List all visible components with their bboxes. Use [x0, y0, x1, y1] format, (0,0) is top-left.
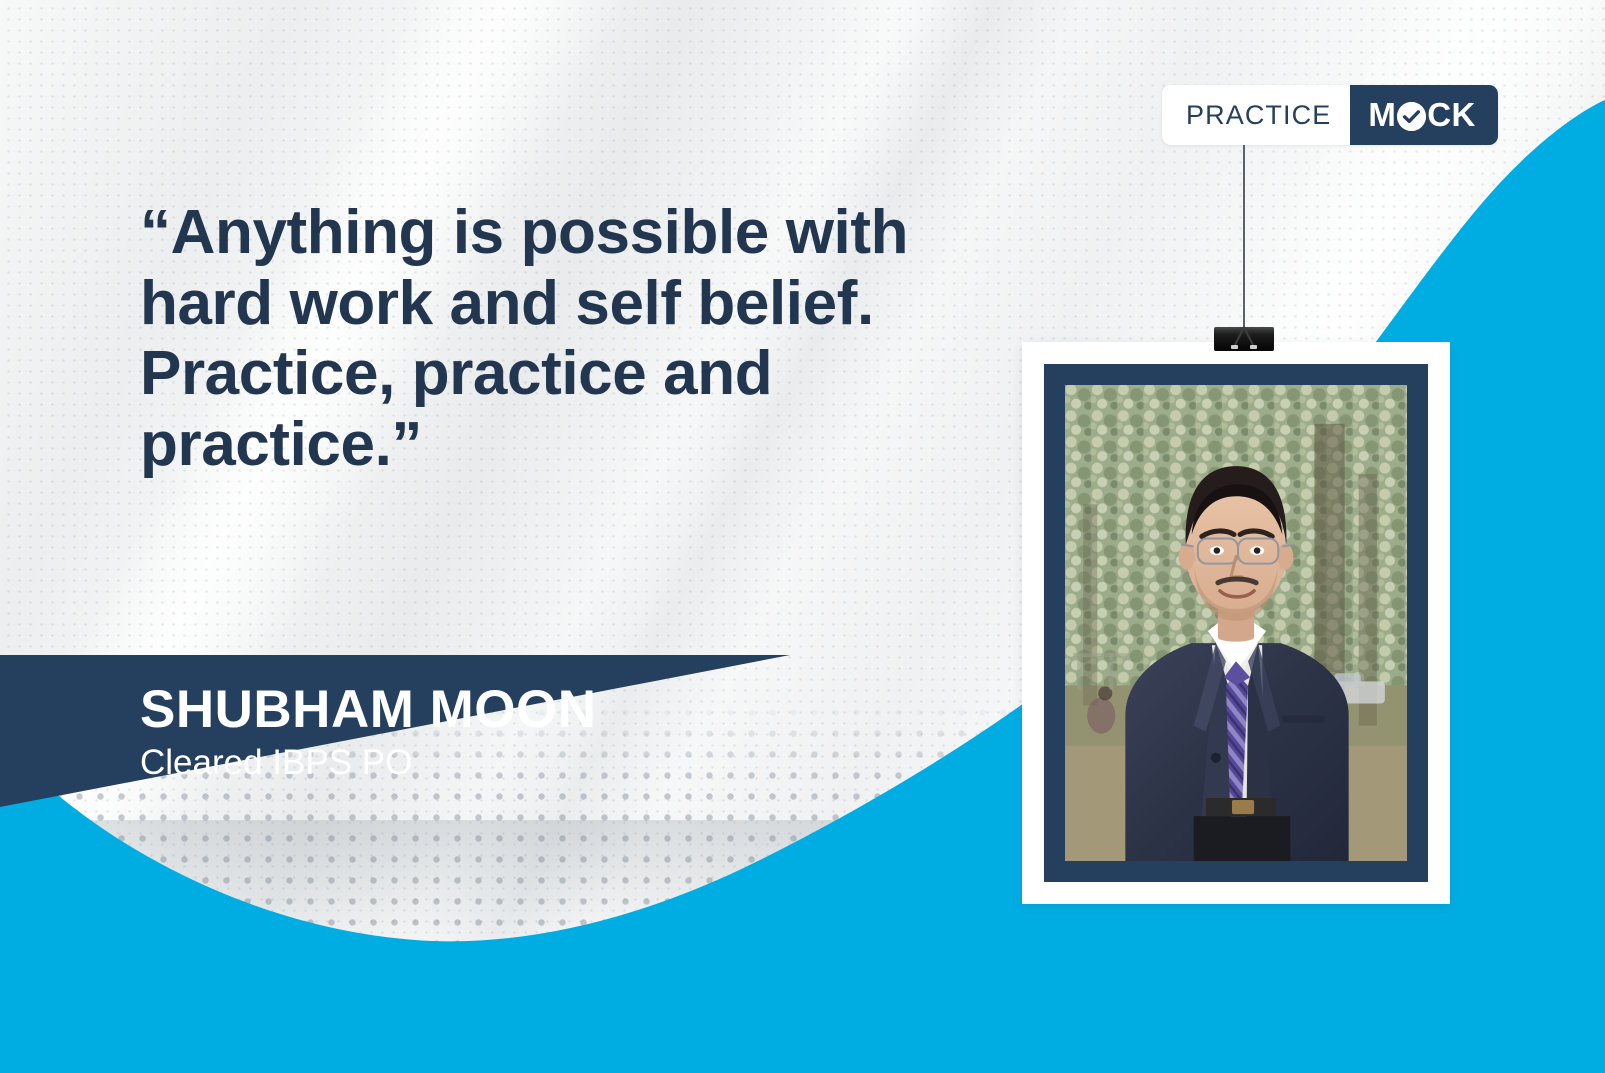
brand-logo[interactable]: PRACTICE M CK: [1162, 85, 1498, 145]
name-banner-content: SHUBHAM MOON Cleared IBPS PO: [0, 655, 790, 807]
testimonial-poster: SHUBHAM MOON Cleared IBPS PO “Anything i…: [0, 0, 1605, 1073]
logo-mock-letter-m: M: [1368, 96, 1396, 134]
photo-frame-mat: [1022, 342, 1450, 904]
person-name: SHUBHAM MOON: [140, 683, 790, 736]
photo-frame-inner-border: [1044, 364, 1428, 882]
quote-line-1: “Anything is possible with: [140, 198, 920, 269]
person-photo-illustration: [1065, 385, 1407, 861]
testimonial-quote: “Anything is possible with hard work and…: [140, 198, 920, 481]
person-achievement: Cleared IBPS PO: [140, 745, 790, 780]
person-photo: [1065, 385, 1407, 861]
quote-line-3: Practice, practice and: [140, 339, 920, 410]
quote-line-2: hard work and self belief.: [140, 269, 920, 340]
hanging-string: [1243, 145, 1245, 329]
logo-mock-block: M CK: [1350, 85, 1497, 145]
logo-practice-text: PRACTICE: [1162, 85, 1350, 145]
binder-clip-icon: [1214, 325, 1274, 353]
logo-mock-letters-ck: CK: [1427, 96, 1475, 134]
check-circle-icon: [1397, 102, 1426, 131]
quote-line-4: practice.”: [140, 410, 920, 481]
